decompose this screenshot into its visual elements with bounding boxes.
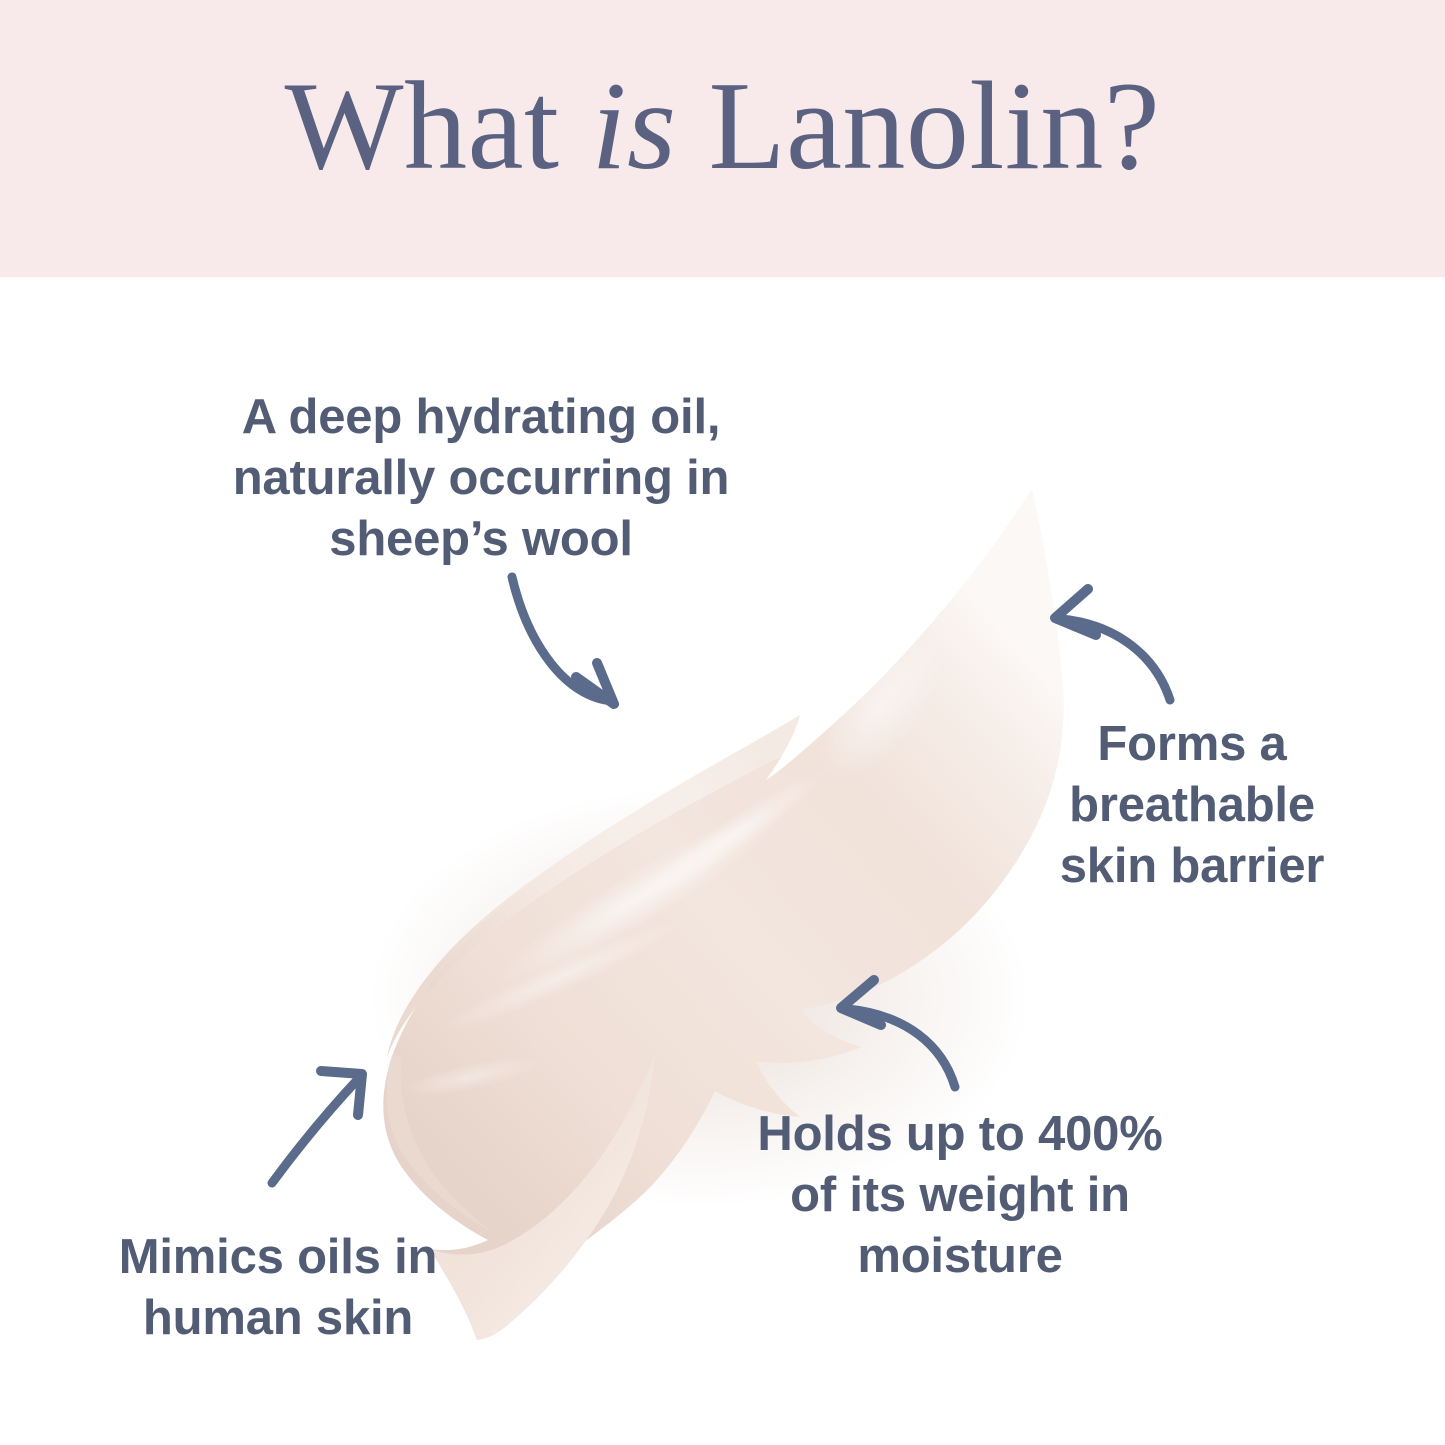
illustration-canvas: A deep hydrating oil, naturally occurrin… bbox=[0, 277, 1445, 1445]
callout-deep-hydrating-oil: A deep hydrating oil, naturally occurrin… bbox=[196, 387, 766, 569]
infographic-page: What is Lanolin? bbox=[0, 0, 1445, 1445]
page-title-emphasis: is bbox=[591, 64, 676, 190]
swatch-sheen-e bbox=[399, 1050, 541, 1105]
callout-holds-moisture: Holds up to 400% of its weight in moistu… bbox=[706, 1104, 1214, 1286]
header-band: What is Lanolin? bbox=[0, 0, 1445, 277]
page-title-prefix: What bbox=[285, 64, 592, 190]
curved-arrow-up-left-right bbox=[1055, 589, 1170, 700]
page-title: What is Lanolin? bbox=[0, 0, 1445, 277]
curved-arrow-up-left-bottom bbox=[841, 980, 955, 1087]
swatch-left-lip bbox=[387, 1055, 492, 1232]
straight-arrow-up-right bbox=[272, 1071, 362, 1183]
swatch-ridge bbox=[387, 715, 800, 1057]
swatch-sheen-b bbox=[622, 757, 839, 918]
curved-arrow-down-right bbox=[512, 577, 614, 704]
swatch-sheen-c bbox=[435, 910, 685, 1043]
swatch-sheen-d bbox=[793, 611, 967, 802]
callout-breathable-barrier: Forms a breathable skin barrier bbox=[1024, 714, 1360, 896]
callout-mimics-skin-oils: Mimics oils in human skin bbox=[78, 1227, 478, 1349]
swatch-sheen-a bbox=[481, 787, 799, 1007]
page-title-suffix: Lanolin? bbox=[677, 64, 1161, 190]
